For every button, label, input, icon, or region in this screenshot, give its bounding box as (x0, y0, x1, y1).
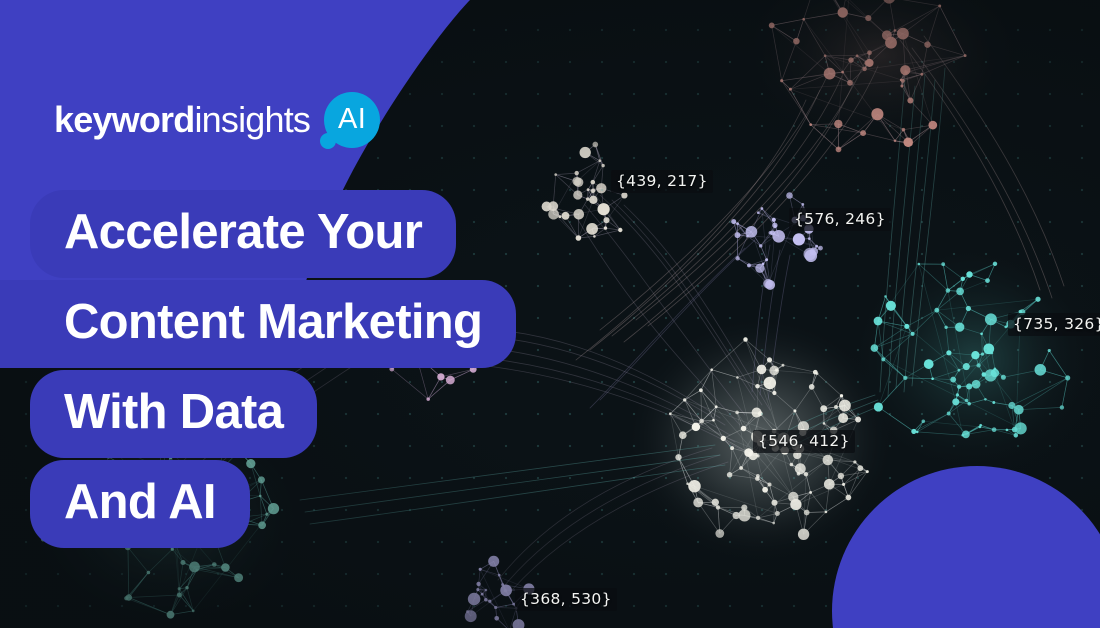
logo-insights-text: insights (194, 102, 310, 138)
ai-bubble-icon: AI (324, 92, 380, 148)
logo-keyword-text: keyword (54, 102, 194, 138)
ai-bubble-circle: AI (324, 92, 380, 148)
headline-block: Accelerate Your Content Marketing With D… (0, 190, 516, 548)
headline-line-1: Accelerate Your (30, 190, 456, 278)
node-coordinate-label: {368, 530} (515, 588, 617, 611)
headline-line-3: With Data (30, 370, 317, 458)
headline-line-4: And AI (30, 460, 250, 548)
ai-badge-text: AI (338, 105, 366, 134)
node-coordinate-label: {439, 217} (611, 170, 713, 193)
headline-line-2: Content Marketing (0, 280, 516, 368)
brand-logo[interactable]: keyword insights AI (54, 92, 380, 148)
hero-banner: {439, 217}{576, 246}{735, 326}{546, 412}… (0, 0, 1100, 628)
node-coordinate-label: {576, 246} (789, 208, 891, 231)
node-coordinate-label: {735, 326} (1008, 313, 1100, 336)
node-coordinate-label: {546, 412} (753, 430, 855, 453)
